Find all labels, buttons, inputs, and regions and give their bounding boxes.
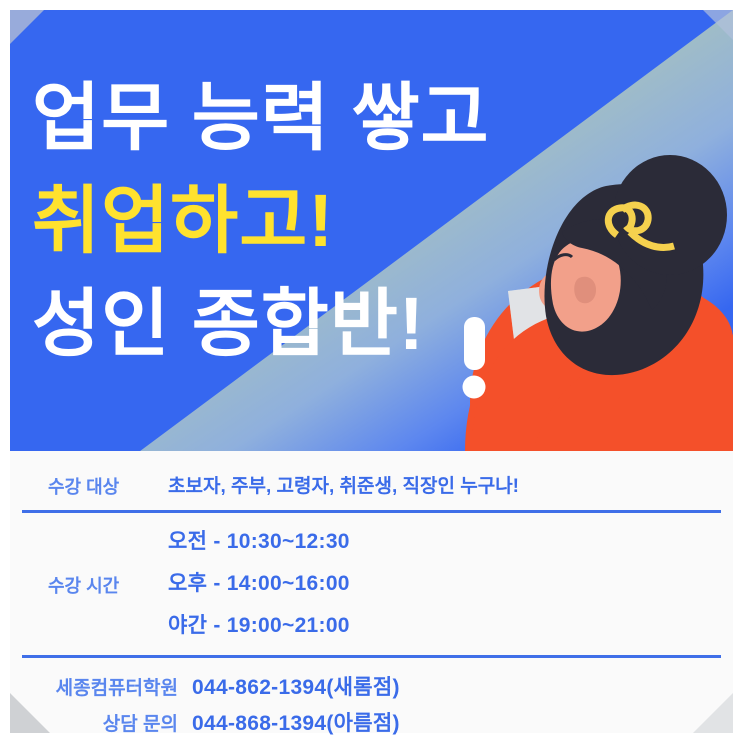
schedule-item-morning: 오전 - 10:30~12:30 bbox=[168, 521, 350, 563]
row-target-audience: 수강 대상 초보자, 주부, 고령자, 취준생, 직장인 누구나! bbox=[10, 459, 733, 509]
class-schedule-label: 수강 시간 bbox=[48, 572, 119, 598]
schedule-item-afternoon: 오후 - 14:00~16:00 bbox=[168, 563, 350, 605]
headline-line-1: 업무 능력 쌓고 bbox=[32, 66, 490, 169]
target-audience-label: 수강 대상 bbox=[48, 473, 119, 499]
inquiry-label: 상담 문의 bbox=[10, 709, 178, 736]
hero-banner: 업무 능력 쌓고 취업하고! 성인 종합반! bbox=[10, 10, 733, 451]
schedule-item-evening: 야간 - 19:00~21:00 bbox=[168, 605, 350, 647]
divider-line-2 bbox=[22, 655, 721, 658]
headline-line-3: 성인 종합반! bbox=[32, 272, 490, 375]
headline-line-2: 취업하고! bbox=[32, 169, 490, 272]
academy-name-label: 세종컴퓨터학원 bbox=[10, 673, 178, 700]
info-panel: 수강 대상 초보자, 주부, 고령자, 취준생, 직장인 누구나! 수강 시간 … bbox=[10, 451, 733, 733]
class-schedule-list: 오전 - 10:30~12:30 오후 - 14:00~16:00 야간 - 1… bbox=[168, 521, 350, 647]
contact-line-1: 세종컴퓨터학원044-862-1394(새롬점) bbox=[10, 671, 400, 705]
row-contact: 세종컴퓨터학원044-862-1394(새롬점) 상담 문의044-868-13… bbox=[10, 663, 733, 733]
target-audience-value: 초보자, 주부, 고령자, 취준생, 직장인 누구나! bbox=[168, 471, 519, 498]
phone-number-saerom[interactable]: 044-862-1394(새롬점) bbox=[192, 671, 400, 701]
divider-line-1 bbox=[22, 510, 721, 513]
poster-canvas: 업무 능력 쌓고 취업하고! 성인 종합반! 수강 대상 초보자, 주부, 고령… bbox=[0, 0, 743, 743]
contact-line-2: 상담 문의044-868-1394(아름점) bbox=[10, 707, 400, 741]
row-class-schedule: 수강 시간 오전 - 10:30~12:30 오후 - 14:00~16:00 … bbox=[10, 515, 733, 653]
headline-block: 업무 능력 쌓고 취업하고! 성인 종합반! bbox=[32, 66, 490, 375]
phone-number-areum[interactable]: 044-868-1394(아름점) bbox=[192, 707, 400, 737]
